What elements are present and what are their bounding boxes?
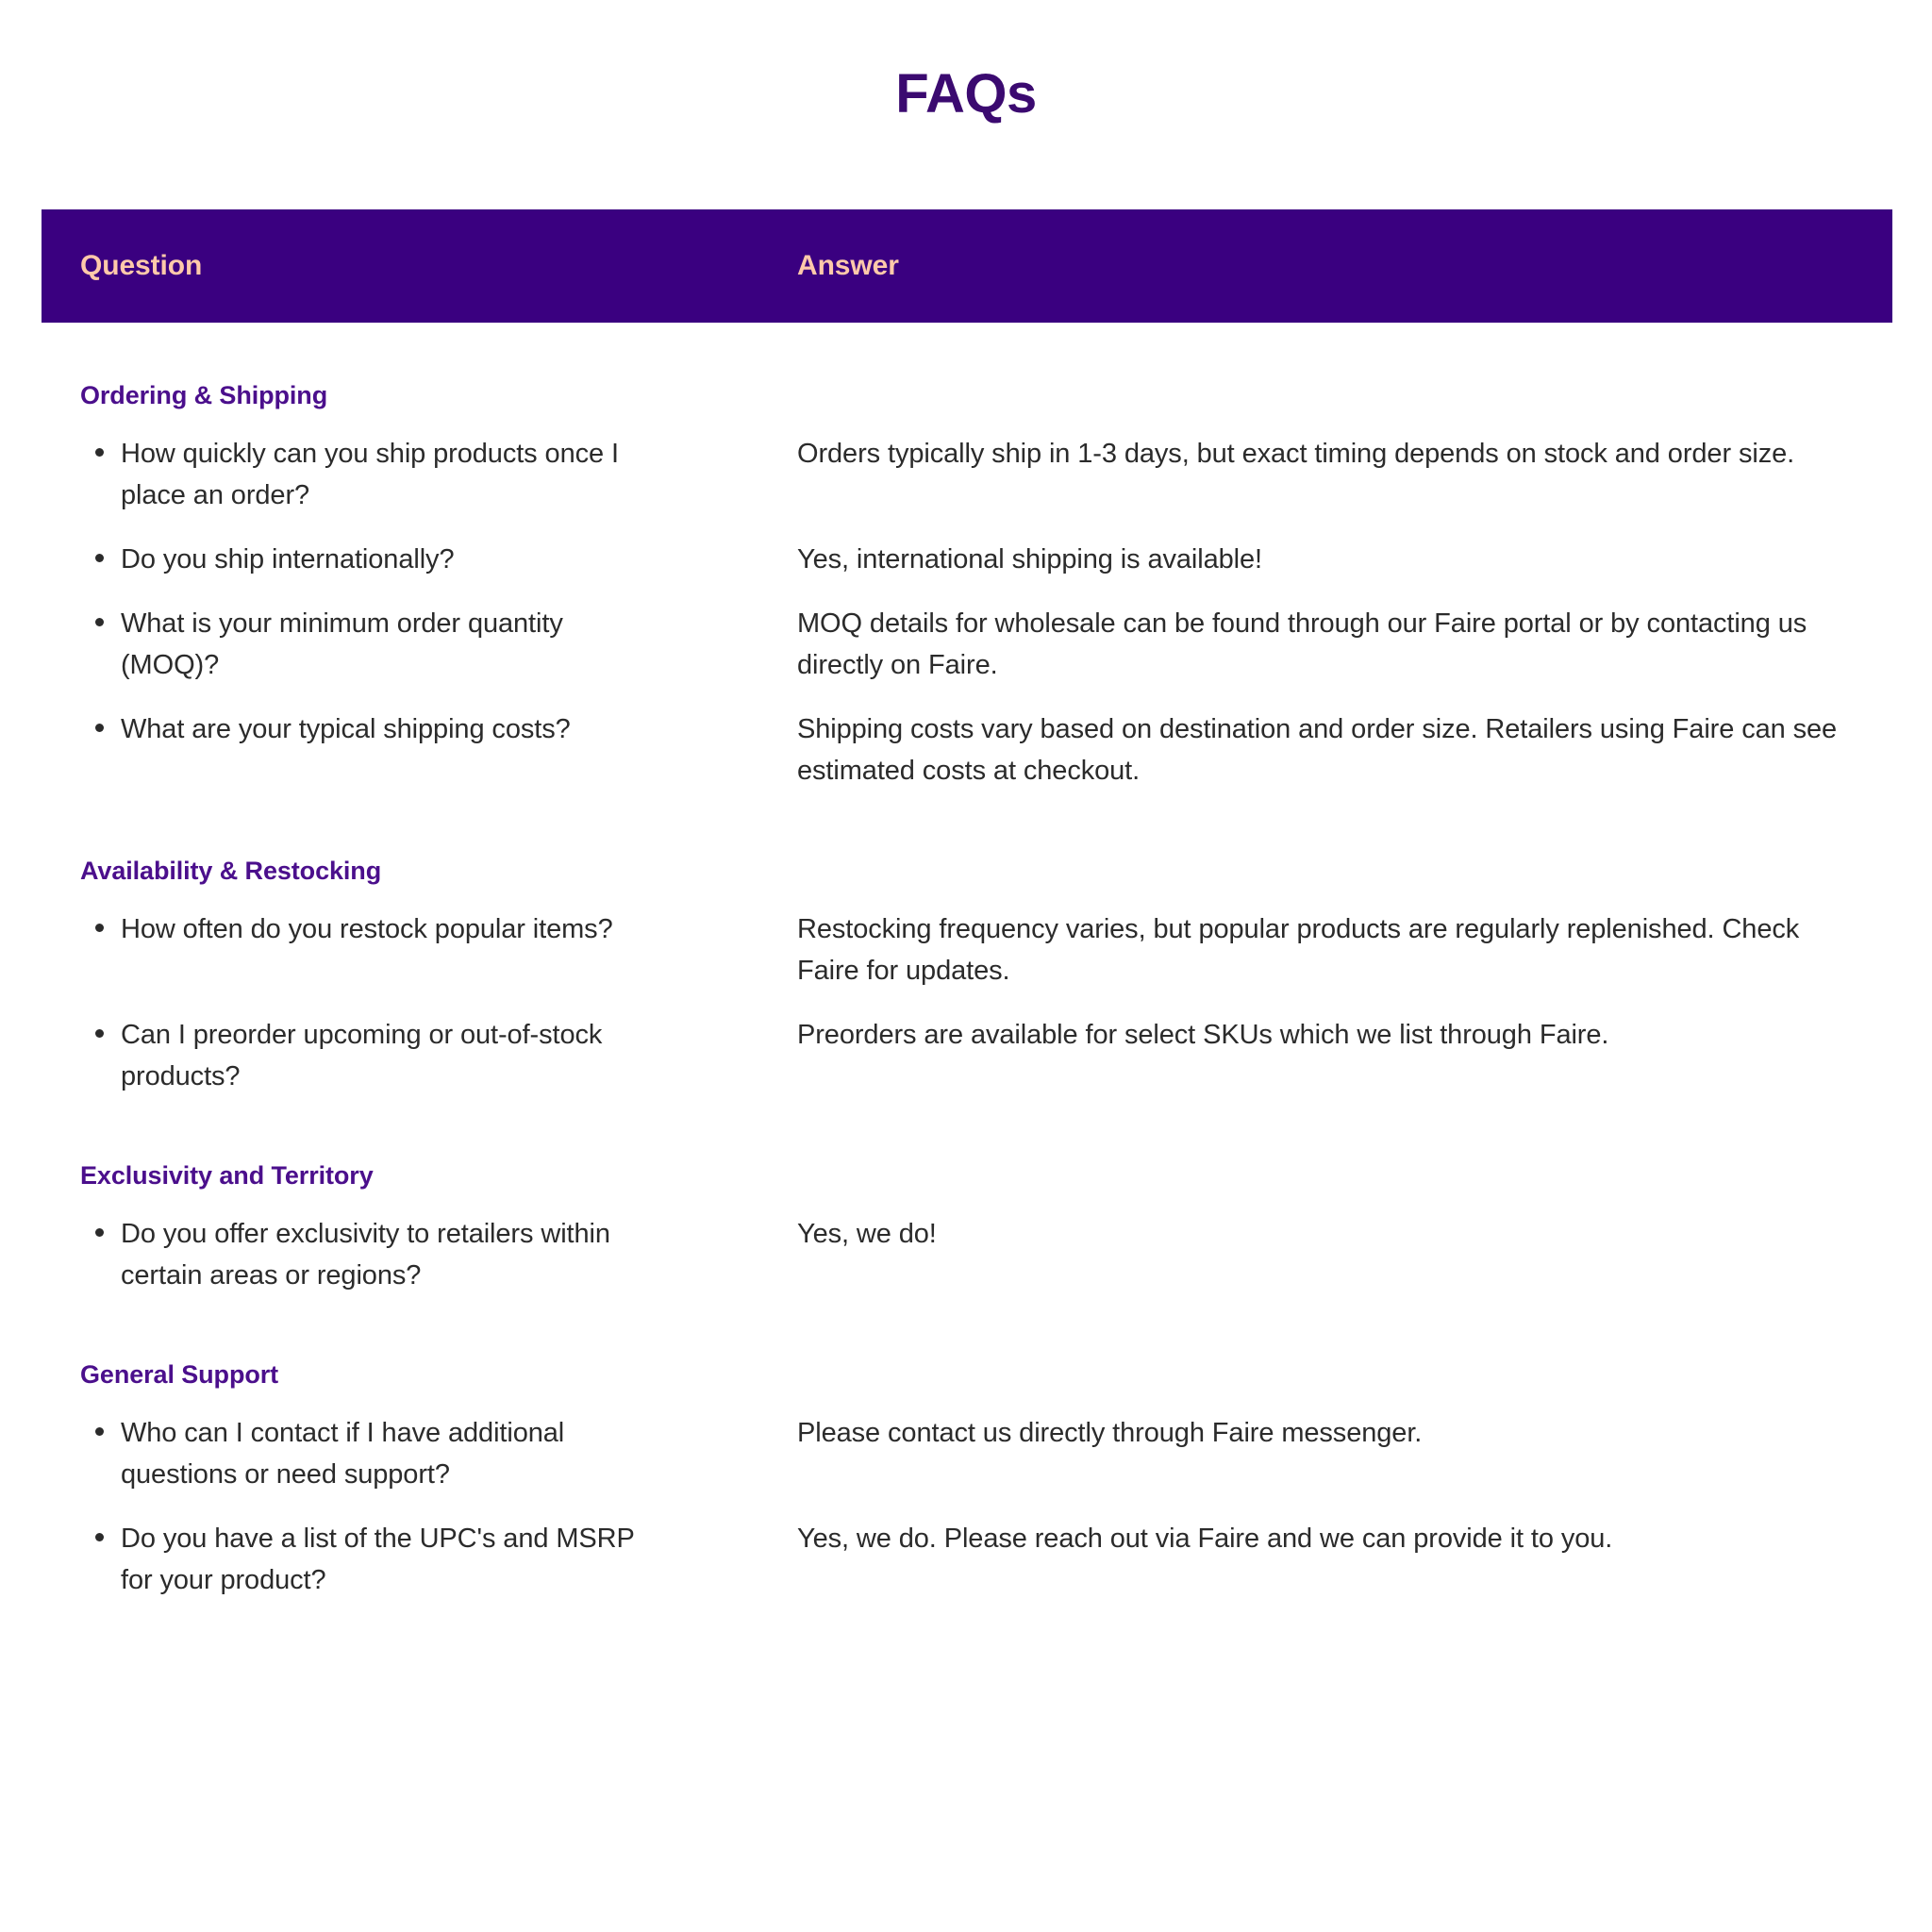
faq-answer-cell: Orders typically ship in 1-3 days, but e… xyxy=(797,433,1892,475)
faq-row: Do you ship internationally?Yes, interna… xyxy=(42,516,1892,580)
faq-question-text: What is your minimum order quantity (MOQ… xyxy=(121,603,658,686)
bullet-icon xyxy=(95,554,104,562)
faq-answer-cell: Yes, we do! xyxy=(797,1213,1892,1255)
faq-question-cell: Do you offer exclusivity to retailers wi… xyxy=(42,1213,797,1296)
faq-question-cell: Who can I contact if I have additional q… xyxy=(42,1412,797,1495)
bullet-icon xyxy=(95,1533,104,1541)
faq-table-body: Ordering & ShippingHow quickly can you s… xyxy=(42,323,1892,1601)
faq-row: Do you have a list of the UPC's and MSRP… xyxy=(42,1495,1892,1601)
bullet-icon xyxy=(95,724,104,732)
faq-question-cell: Do you have a list of the UPC's and MSRP… xyxy=(42,1518,797,1601)
faq-answer-text: Preorders are available for select SKUs … xyxy=(797,1014,1844,1056)
faq-question-cell: How quickly can you ship products once I… xyxy=(42,433,797,516)
faq-row: Who can I contact if I have additional q… xyxy=(42,1390,1892,1495)
faq-answer-cell: MOQ details for wholesale can be found t… xyxy=(797,603,1892,686)
faq-question-text: What are your typical shipping costs? xyxy=(121,708,658,750)
table-header-question-cell: Question xyxy=(42,250,797,282)
faq-question-text: Do you have a list of the UPC's and MSRP… xyxy=(121,1518,658,1601)
faq-row: What is your minimum order quantity (MOQ… xyxy=(42,580,1892,686)
faq-question-text: How often do you restock popular items? xyxy=(121,908,658,950)
table-header-answer-cell: Answer xyxy=(797,250,1892,282)
faq-answer-text: Please contact us directly through Faire… xyxy=(797,1412,1844,1454)
bullet-icon xyxy=(95,448,104,457)
column-header-answer: Answer xyxy=(797,250,899,281)
faq-page: FAQs Question Answer Ordering & Shipping… xyxy=(0,0,1932,1932)
faq-section-heading: General Support xyxy=(42,1296,1892,1390)
faq-answer-text: Restocking frequency varies, but popular… xyxy=(797,908,1844,991)
faq-answer-text: Yes, international shipping is available… xyxy=(797,539,1844,580)
faq-section-heading: Exclusivity and Territory xyxy=(42,1097,1892,1191)
faq-question-cell: How often do you restock popular items? xyxy=(42,908,797,950)
faq-section: Exclusivity and TerritoryDo you offer ex… xyxy=(42,1097,1892,1296)
table-header-row: Question Answer xyxy=(42,209,1892,323)
faq-question-cell: What is your minimum order quantity (MOQ… xyxy=(42,603,797,686)
faq-question-cell: Do you ship internationally? xyxy=(42,539,797,580)
faq-answer-cell: Please contact us directly through Faire… xyxy=(797,1412,1892,1454)
faq-answer-text: MOQ details for wholesale can be found t… xyxy=(797,603,1844,686)
faq-section: General SupportWho can I contact if I ha… xyxy=(42,1296,1892,1601)
faq-answer-cell: Yes, international shipping is available… xyxy=(797,539,1892,580)
faq-answer-text: Yes, we do. Please reach out via Faire a… xyxy=(797,1518,1844,1559)
bullet-icon xyxy=(95,924,104,932)
faq-row: How often do you restock popular items?R… xyxy=(42,886,1892,991)
faq-answer-text: Orders typically ship in 1-3 days, but e… xyxy=(797,433,1844,475)
faq-section: Ordering & ShippingHow quickly can you s… xyxy=(42,323,1892,792)
faq-question-text: How quickly can you ship products once I… xyxy=(121,433,658,516)
faq-question-text: Can I preorder upcoming or out-of-stock … xyxy=(121,1014,658,1097)
faq-answer-text: Yes, we do! xyxy=(797,1213,1844,1255)
page-title: FAQs xyxy=(0,0,1932,125)
bullet-icon xyxy=(95,1427,104,1436)
faq-answer-cell: Shipping costs vary based on destination… xyxy=(797,708,1892,791)
bullet-icon xyxy=(95,1029,104,1038)
faq-question-cell: Can I preorder upcoming or out-of-stock … xyxy=(42,1014,797,1097)
faq-answer-cell: Yes, we do. Please reach out via Faire a… xyxy=(797,1518,1892,1559)
faq-question-text: Who can I contact if I have additional q… xyxy=(121,1412,658,1495)
bullet-icon xyxy=(95,1228,104,1237)
faq-question-text: Do you ship internationally? xyxy=(121,539,658,580)
faq-section-heading: Availability & Restocking xyxy=(42,792,1892,886)
column-header-question: Question xyxy=(80,250,202,281)
faq-question-cell: What are your typical shipping costs? xyxy=(42,708,797,750)
faq-row: Can I preorder upcoming or out-of-stock … xyxy=(42,991,1892,1097)
faq-section: Availability & RestockingHow often do yo… xyxy=(42,792,1892,1097)
faq-answer-text: Shipping costs vary based on destination… xyxy=(797,708,1844,791)
faq-answer-cell: Preorders are available for select SKUs … xyxy=(797,1014,1892,1056)
faq-question-text: Do you offer exclusivity to retailers wi… xyxy=(121,1213,658,1296)
faq-row: What are your typical shipping costs?Shi… xyxy=(42,686,1892,791)
faq-section-heading: Ordering & Shipping xyxy=(42,323,1892,410)
faq-answer-cell: Restocking frequency varies, but popular… xyxy=(797,908,1892,991)
faq-row: How quickly can you ship products once I… xyxy=(42,410,1892,516)
bullet-icon xyxy=(95,618,104,626)
faq-row: Do you offer exclusivity to retailers wi… xyxy=(42,1191,1892,1296)
